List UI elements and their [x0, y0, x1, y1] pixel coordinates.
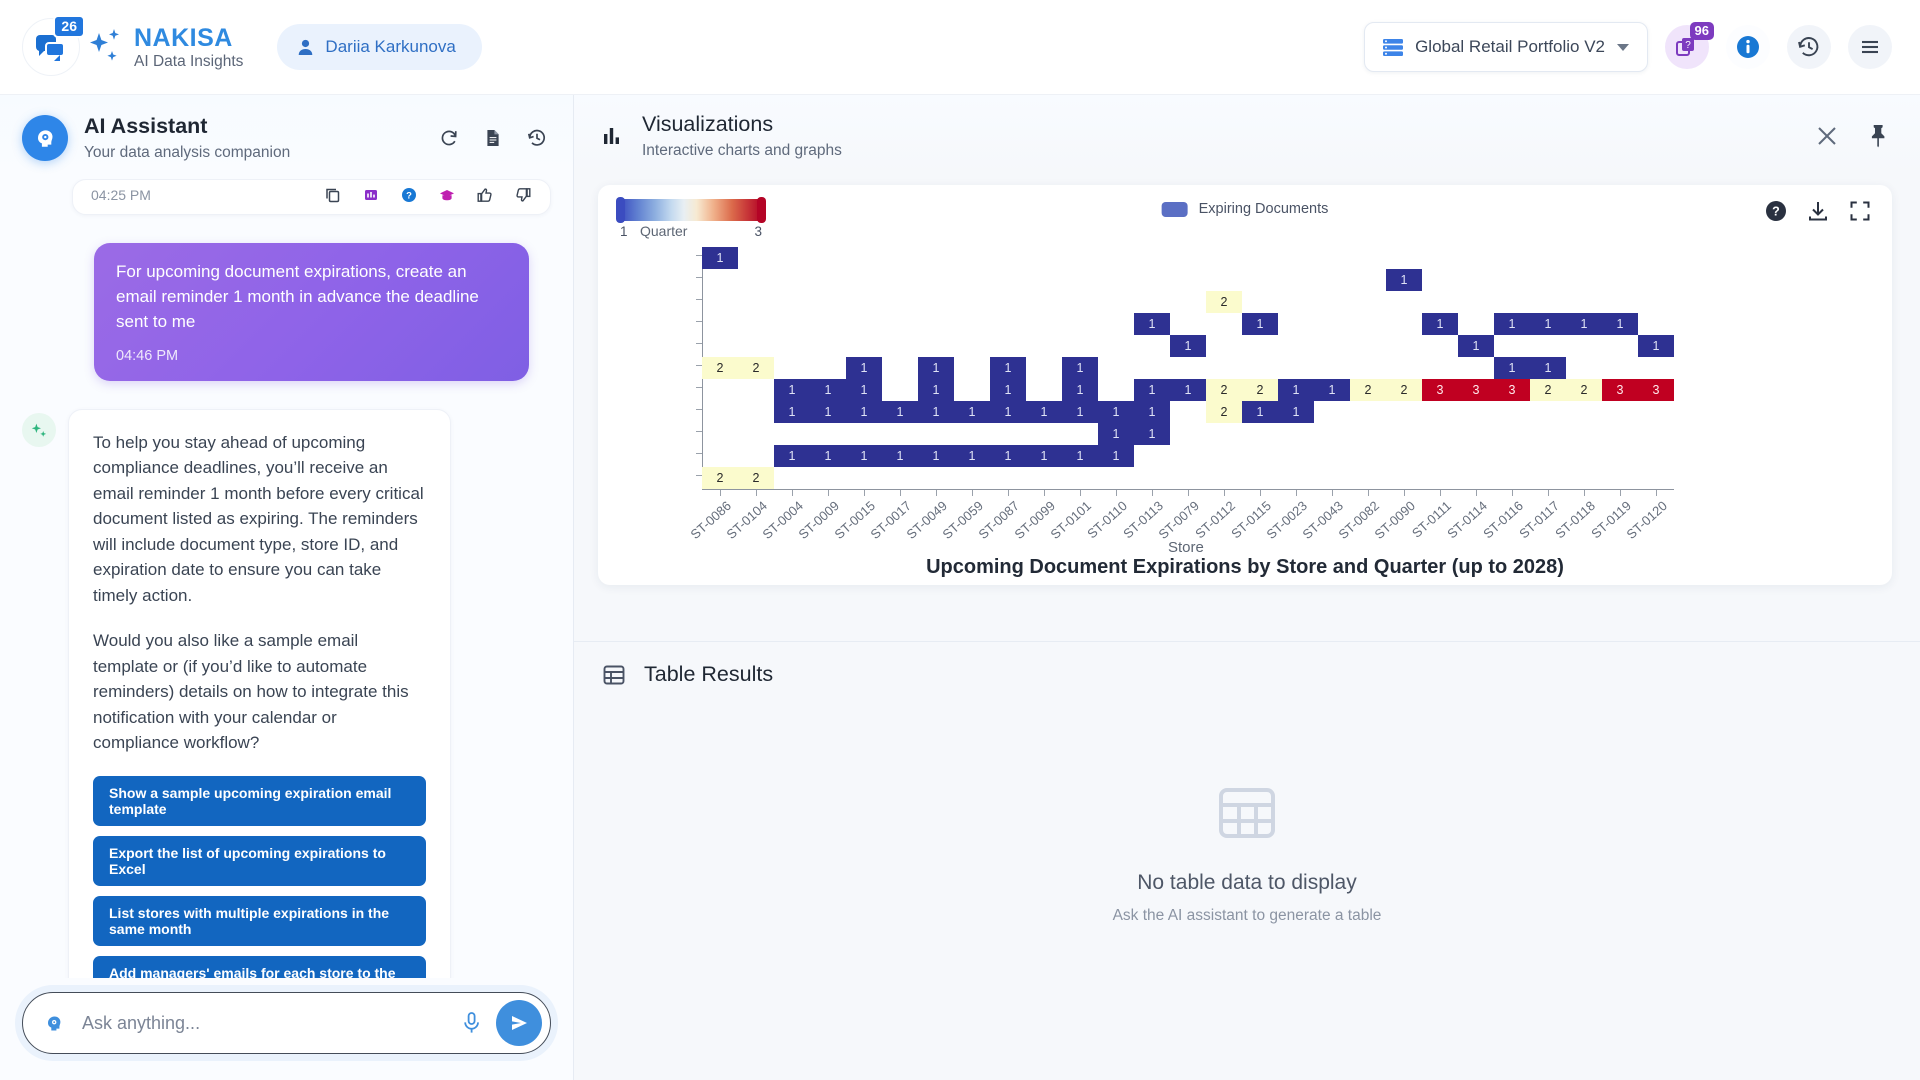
heatmap-cell[interactable]: 2 — [702, 357, 738, 379]
heatmap-cell[interactable]: 2 — [1206, 379, 1242, 401]
heatmap-cell[interactable]: 1 — [774, 445, 810, 467]
microphone-icon[interactable] — [461, 1011, 482, 1035]
send-icon — [508, 1012, 530, 1034]
heatmap-cell[interactable]: 1 — [1242, 401, 1278, 423]
chat-logo-icon: 26 — [22, 18, 80, 76]
x-axis-tick — [1188, 490, 1189, 496]
help-questions-button[interactable]: ? 96 — [1665, 25, 1709, 69]
heatmap-cell[interactable]: 1 — [1062, 379, 1098, 401]
heatmap-cell[interactable]: 1 — [918, 379, 954, 401]
x-axis-tick — [1224, 490, 1225, 496]
legend-label: Expiring Documents — [1199, 201, 1329, 217]
x-axis-tick — [756, 490, 757, 496]
heatmap-cell[interactable]: 1 — [1602, 313, 1638, 335]
heatmap-cell[interactable]: 3 — [1638, 379, 1674, 401]
heatmap-cell[interactable]: 1 — [846, 401, 882, 423]
x-axis-tick — [972, 490, 973, 496]
x-axis-tick — [1296, 490, 1297, 496]
heatmap-cell[interactable]: 1 — [954, 401, 990, 423]
info-button[interactable] — [1726, 25, 1770, 69]
heatmap-cell[interactable]: 1 — [1026, 445, 1062, 467]
pin-icon[interactable] — [1866, 123, 1892, 149]
learn-icon[interactable] — [438, 186, 456, 204]
person-icon — [297, 39, 314, 56]
heatmap-cell[interactable]: 1 — [1278, 379, 1314, 401]
brand-subtitle: AI Data Insights — [134, 53, 243, 70]
table-icon — [602, 663, 626, 687]
heatmap-cell[interactable]: 3 — [1422, 379, 1458, 401]
chat-composer[interactable] — [22, 992, 551, 1054]
heatmap-cell[interactable]: 1 — [810, 401, 846, 423]
chart-title: Upcoming Document Expirations by Store a… — [598, 556, 1892, 579]
heatmap-cell[interactable]: 1 — [1134, 379, 1170, 401]
x-axis-tick — [1044, 490, 1045, 496]
heatmap-cell[interactable]: 1 — [1098, 423, 1134, 445]
copy-icon[interactable] — [324, 186, 342, 204]
heatmap-cell[interactable]: 3 — [1602, 379, 1638, 401]
x-axis-tick — [936, 490, 937, 496]
ai-message-bubble: To help you stay ahead of upcoming compl… — [68, 409, 451, 978]
x-axis-tick — [1080, 490, 1081, 496]
ai-paragraph-2: Would you also like a sample email templ… — [93, 628, 426, 756]
chart-toolbar: ? — [1764, 199, 1872, 223]
heatmap-cell[interactable]: 1 — [1134, 401, 1170, 423]
document-icon[interactable] — [483, 128, 503, 148]
heatmap-cell[interactable]: 2 — [1206, 291, 1242, 313]
assistant-title: AI Assistant — [84, 113, 290, 141]
empty-state-subtitle: Ask the AI assistant to generate a table — [1113, 907, 1382, 925]
x-axis-tick — [1260, 490, 1261, 496]
x-axis-tick — [1152, 490, 1153, 496]
ai-paragraph-1: To help you stay ahead of upcoming compl… — [93, 430, 426, 609]
svg-text:?: ? — [406, 191, 412, 202]
assistant-header: AI Assistant Your data analysis companio… — [0, 95, 573, 179]
heatmap-cell[interactable]: 1 — [774, 379, 810, 401]
table-results-title: Table Results — [644, 662, 773, 687]
logo-badge-count: 26 — [53, 15, 85, 38]
bar-chart-icon — [602, 125, 624, 147]
heatmap-cell[interactable]: 1 — [1170, 335, 1206, 357]
heatmap-cell[interactable]: 1 — [1530, 313, 1566, 335]
heatmap-cell[interactable]: 1 — [1062, 401, 1098, 423]
previous-message-time: 04:25 PM — [91, 187, 151, 203]
legend-swatch — [1162, 202, 1188, 217]
heatmap-cell[interactable]: 1 — [702, 247, 738, 269]
heatmap-cell[interactable]: 2 — [1350, 379, 1386, 401]
heatmap-cell[interactable]: 2 — [738, 467, 774, 489]
colorbar-gradient — [620, 199, 762, 221]
refresh-icon[interactable] — [439, 128, 459, 148]
heatmap-cell[interactable]: 2 — [1386, 379, 1422, 401]
portfolio-label: Global Retail Portfolio V2 — [1415, 37, 1605, 57]
heatmap-cell[interactable]: 1 — [1494, 313, 1530, 335]
heatmap-cell[interactable]: 1 — [846, 357, 882, 379]
heatmap-cell[interactable]: 2 — [702, 467, 738, 489]
heatmap-cell[interactable]: 1 — [1098, 445, 1134, 467]
heatmap-cell[interactable]: 1 — [990, 379, 1026, 401]
suggestion-button-1[interactable]: Show a sample upcoming expiration email … — [93, 776, 426, 826]
heatmap-cell[interactable]: 2 — [1530, 379, 1566, 401]
x-axis-tick — [1116, 490, 1117, 496]
x-axis-title: Store — [1168, 539, 1204, 556]
brand-logo[interactable]: 26 NAKISA AI Data Insights — [22, 18, 243, 76]
search-input[interactable] — [80, 1012, 461, 1035]
heatmap-cell[interactable]: 1 — [1026, 401, 1062, 423]
x-axis-tick — [1620, 490, 1621, 496]
heatmap-cell[interactable]: 1 — [1134, 313, 1170, 335]
heatmap-cell[interactable]: 1 — [810, 379, 846, 401]
heatmap-cell[interactable]: 1 — [1098, 401, 1134, 423]
heatmap-chart-card: 1 3 Expiring Documents ? — [598, 185, 1892, 585]
x-axis-tick — [720, 490, 721, 496]
visualizations-subtitle: Interactive charts and graphs — [642, 141, 842, 161]
content-area: Visualizations Interactive charts and gr… — [574, 95, 1920, 1080]
heatmap-cell[interactable]: 1 — [1638, 335, 1674, 357]
previous-message-footer: 04:25 PM ? — [72, 179, 551, 215]
ai-assistant-panel: AI Assistant Your data analysis companio… — [0, 95, 574, 1080]
heatmap-cell[interactable]: 1 — [1062, 357, 1098, 379]
history-button[interactable] — [1787, 25, 1831, 69]
empty-state-title: No table data to display — [1137, 871, 1356, 895]
help-badge-count: 96 — [1690, 22, 1714, 40]
heatmap-cell[interactable]: 1 — [810, 445, 846, 467]
heatmap-cell[interactable]: 1 — [1422, 313, 1458, 335]
user-message-text: For upcoming document expirations, creat… — [116, 262, 479, 331]
suggestion-button-3[interactable]: List stores with multiple expirations in… — [93, 896, 426, 946]
x-axis-tick — [1476, 490, 1477, 496]
user-name: Dariia Karkunova — [325, 37, 455, 57]
heatmap-cell[interactable]: 1 — [1494, 357, 1530, 379]
heatmap-cell[interactable]: 1 — [918, 445, 954, 467]
heatmap-cell[interactable]: 1 — [882, 445, 918, 467]
heatmap-cell[interactable]: 1 — [954, 445, 990, 467]
x-axis-tick — [1008, 490, 1009, 496]
heatmap-cell[interactable]: 2 — [1242, 379, 1278, 401]
heatmap-cell[interactable]: 1 — [1134, 423, 1170, 445]
sparkle-icon — [90, 27, 124, 67]
chat-message-list[interactable]: 04:25 PM ? For upcoming document expirat… — [0, 179, 573, 978]
x-axis-tick — [792, 490, 793, 496]
thumbs-up-icon[interactable] — [476, 186, 494, 204]
heatmap-cell[interactable]: 2 — [738, 357, 774, 379]
close-icon[interactable] — [1814, 123, 1840, 149]
chevron-down-icon[interactable] — [1617, 44, 1629, 51]
heatmap-cell[interactable]: 3 — [1494, 379, 1530, 401]
chart-icon[interactable] — [362, 186, 380, 204]
x-axis-tick — [1584, 490, 1585, 496]
svg-text:?: ? — [1772, 204, 1780, 218]
history-clock-icon — [1797, 35, 1821, 59]
heatmap-cell[interactable]: 1 — [846, 445, 882, 467]
heatmap-cell[interactable]: 1 — [1566, 313, 1602, 335]
ai-message-row: To help you stay ahead of upcoming compl… — [22, 409, 551, 978]
colorbar-min-label: 1 — [620, 224, 628, 239]
composer-area — [0, 978, 573, 1080]
x-axis-tick — [1548, 490, 1549, 496]
download-icon[interactable] — [1806, 199, 1830, 223]
suggestion-button-4[interactable]: Add managers' emails for each store to t… — [93, 956, 426, 978]
table-results-header: Table Results — [574, 641, 1920, 705]
visualizations-title: Visualizations — [642, 111, 842, 139]
heatmap-cell[interactable]: 1 — [1278, 401, 1314, 423]
heatmap-cell[interactable]: 1 — [990, 357, 1026, 379]
user-profile-chip[interactable]: Dariia Karkunova — [277, 24, 481, 70]
assistant-head-icon — [45, 1013, 64, 1033]
brand-name: NAKISA — [134, 24, 243, 52]
history-icon[interactable] — [527, 128, 547, 148]
x-axis-tick — [1404, 490, 1405, 496]
y-axis-title: Quarter — [640, 223, 687, 239]
heatmap-cell[interactable]: 1 — [1458, 335, 1494, 357]
x-axis-tick — [1440, 490, 1441, 496]
database-icon — [1383, 39, 1403, 56]
main-layout: AI Assistant Your data analysis companio… — [0, 95, 1920, 1080]
table-placeholder-icon — [1215, 781, 1279, 845]
heatmap-cell[interactable]: 2 — [1566, 379, 1602, 401]
help-icon[interactable]: ? — [400, 186, 418, 204]
heatmap-cell[interactable]: 1 — [1170, 379, 1206, 401]
heatmap-cell[interactable]: 1 — [990, 401, 1026, 423]
help-circle-icon[interactable]: ? — [1764, 199, 1788, 223]
heatmap-cell[interactable]: 1 — [846, 379, 882, 401]
user-message-time: 04:46 PM — [116, 346, 507, 367]
heatmap-cell[interactable]: 1 — [882, 401, 918, 423]
portfolio-selector[interactable]: Global Retail Portfolio V2 — [1364, 22, 1648, 72]
heatmap-cell[interactable]: 3 — [1458, 379, 1494, 401]
user-message-bubble: For upcoming document expirations, creat… — [94, 243, 529, 381]
heatmap-cell[interactable]: 1 — [918, 357, 954, 379]
heatmap-cell[interactable]: 1 — [1242, 313, 1278, 335]
x-axis-tick — [900, 490, 901, 496]
x-axis-tick — [1332, 490, 1333, 496]
header-actions: Global Retail Portfolio V2 ? 96 — [1364, 22, 1892, 72]
heatmap-cell[interactable]: 1 — [990, 445, 1026, 467]
assistant-avatar-icon — [22, 115, 68, 161]
suggestion-button-2[interactable]: Export the list of upcoming expirations … — [93, 836, 426, 886]
heatmap-cell[interactable]: 1 — [918, 401, 954, 423]
svg-text:?: ? — [1685, 40, 1691, 51]
heatmap-cell[interactable]: 1 — [1530, 357, 1566, 379]
menu-button[interactable] — [1848, 25, 1892, 69]
colorbar-max-label: 3 — [754, 224, 762, 239]
x-axis-tick — [828, 490, 829, 496]
chart-legend: Expiring Documents — [1162, 201, 1329, 217]
thumbs-down-icon[interactable] — [514, 186, 532, 204]
send-button[interactable] — [496, 1000, 542, 1046]
x-axis-tick — [1656, 490, 1657, 496]
ai-sparkle-avatar-icon — [22, 413, 56, 447]
heatmap-cell[interactable]: 2 — [1206, 401, 1242, 423]
top-header-bar: 26 NAKISA AI Data Insights Dariia Karkun… — [0, 0, 1920, 95]
assistant-subtitle: Your data analysis companion — [84, 143, 290, 163]
hamburger-menu-icon — [1858, 35, 1882, 59]
fullscreen-icon[interactable] — [1848, 199, 1872, 223]
table-empty-state: No table data to display Ask the AI assi… — [574, 705, 1920, 1080]
x-axis-tick — [864, 490, 865, 496]
heatmap-cell[interactable]: 1 — [1386, 269, 1422, 291]
heatmap-cell[interactable]: 1 — [774, 401, 810, 423]
heatmap-cell[interactable]: 1 — [1062, 445, 1098, 467]
x-axis-tick — [1512, 490, 1513, 496]
info-icon — [1735, 34, 1761, 60]
visualizations-header: Visualizations Interactive charts and gr… — [574, 95, 1920, 175]
heatmap-cell[interactable]: 1 — [1314, 379, 1350, 401]
x-axis-tick — [1368, 490, 1369, 496]
